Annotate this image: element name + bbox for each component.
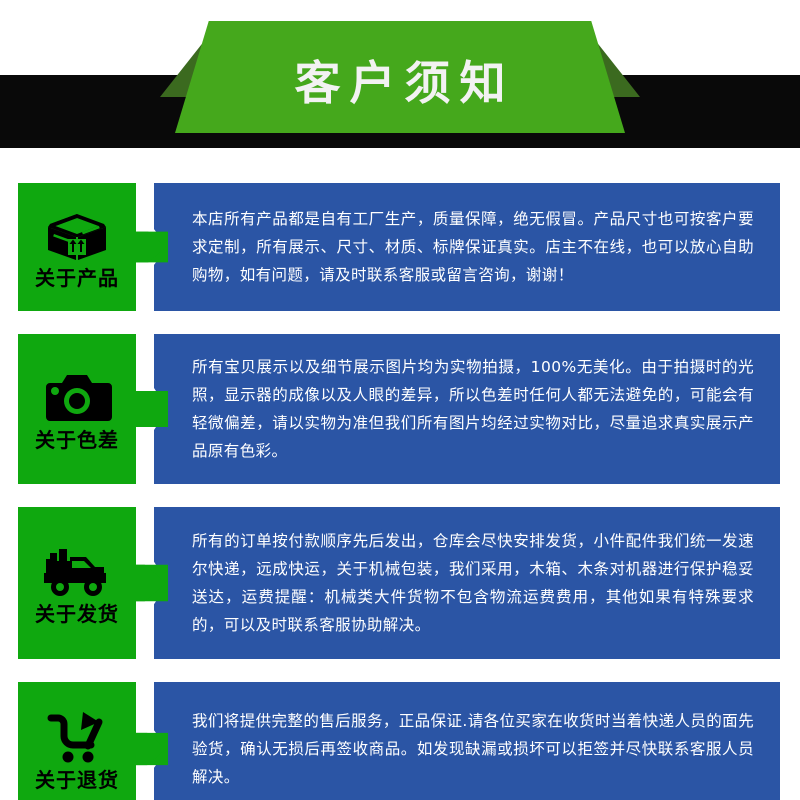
notice-text-panel: 本店所有产品都是自有工厂生产，质量保障，绝无假冒。产品尺寸也可按客户要求定制，所… bbox=[154, 183, 780, 311]
notice-text: 所有宝贝展示以及细节展示图片均为实物拍摄，100%无美化。由于拍摄时的光照，显示… bbox=[192, 353, 754, 466]
customer-notice-page: 客户须知 bbox=[0, 0, 800, 800]
notice-row: 关于发货 所有的订单按付款顺序先后发出，仓库会尽快安排发货，小件配件我们统一发速… bbox=[0, 507, 800, 659]
notice-text: 本店所有产品都是自有工厂生产，质量保障，绝无假冒。产品尺寸也可按客户要求定制，所… bbox=[192, 205, 754, 290]
notice-card-label: 关于发货 bbox=[35, 603, 119, 625]
notice-text-panel: 所有的订单按付款顺序先后发出，仓库会尽快安排发货，小件配件我们统一发速尔快递，远… bbox=[154, 507, 780, 659]
notice-card-label: 关于产品 bbox=[35, 267, 119, 289]
notice-rows: 关于产品 本店所有产品都是自有工厂生产，质量保障，绝无假冒。产品尺寸也可按客户要… bbox=[0, 150, 800, 800]
page-header: 客户须知 bbox=[0, 0, 800, 150]
notice-card-return[interactable]: 关于退货 bbox=[18, 682, 136, 800]
return-cart-icon bbox=[40, 709, 114, 765]
forklift-truck-icon bbox=[40, 543, 114, 599]
notice-card-shipping[interactable]: 关于发货 bbox=[18, 507, 136, 659]
camera-icon bbox=[40, 369, 114, 425]
notice-text-panel: 我们将提供完整的售后服务，正品保证.请各位买家在收货时当着快递人员的面先验货，确… bbox=[154, 682, 780, 800]
notice-card-label: 关于退货 bbox=[35, 769, 119, 791]
notice-card-product[interactable]: 关于产品 bbox=[18, 183, 136, 311]
notice-text: 所有的订单按付款顺序先后发出，仓库会尽快安排发货，小件配件我们统一发速尔快递，远… bbox=[192, 527, 754, 640]
notice-card-color[interactable]: 关于色差 bbox=[18, 334, 136, 484]
page-title: 客户须知 bbox=[286, 48, 515, 106]
notice-row: 关于产品 本店所有产品都是自有工厂生产，质量保障，绝无假冒。产品尺寸也可按客户要… bbox=[0, 183, 800, 311]
notice-card-label: 关于色差 bbox=[35, 429, 119, 451]
header-banner: 客户须知 bbox=[175, 21, 625, 133]
notice-text: 我们将提供完整的售后服务，正品保证.请各位买家在收货时当着快递人员的面先验货，确… bbox=[192, 707, 754, 792]
notice-row: 关于退货 我们将提供完整的售后服务，正品保证.请各位买家在收货时当着快递人员的面… bbox=[0, 682, 800, 800]
cardboard-box-icon bbox=[40, 207, 114, 263]
notice-text-panel: 所有宝贝展示以及细节展示图片均为实物拍摄，100%无美化。由于拍摄时的光照，显示… bbox=[154, 334, 780, 484]
notice-row: 关于色差 所有宝贝展示以及细节展示图片均为实物拍摄，100%无美化。由于拍摄时的… bbox=[0, 334, 800, 484]
